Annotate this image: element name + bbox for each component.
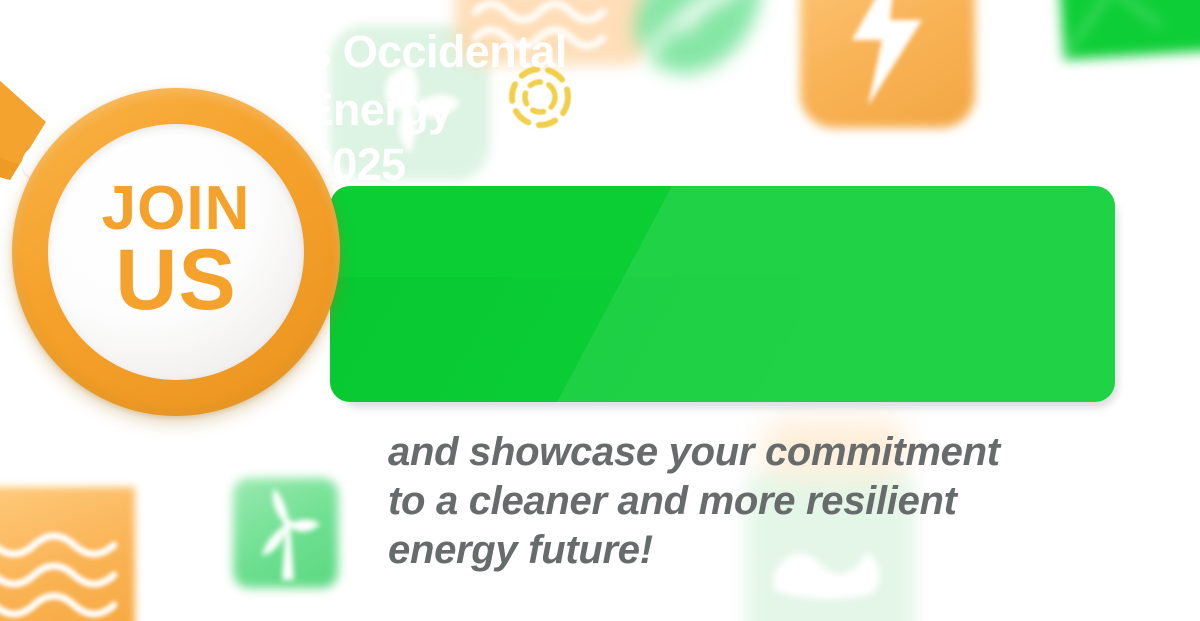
subtitle-line-2: to a cleaner and more resilient [388,477,1148,526]
banner-canvas: at the Negros Occidental Renewable Energ… [0,0,1200,621]
hydro-waves-icon [0,487,135,621]
badge-line-1: JOIN [102,180,251,238]
magnifier-lens: JOIN US [48,124,304,380]
hydro-waves-backdrop [0,487,135,621]
headline-banner [330,186,1115,402]
subtitle-line-3: energy future! [388,526,1148,575]
badge-line-2: US [115,240,236,320]
wind-turbine-backdrop [233,478,338,588]
subtitle-text: and showcase your commitment to a cleane… [388,428,1148,575]
banner-sheen-overlay-secondary [330,277,801,402]
wind-turbine-icon [252,486,322,584]
subtitle-line-1: and showcase your commitment [388,428,1148,477]
join-us-badge: JOIN US [0,70,366,450]
